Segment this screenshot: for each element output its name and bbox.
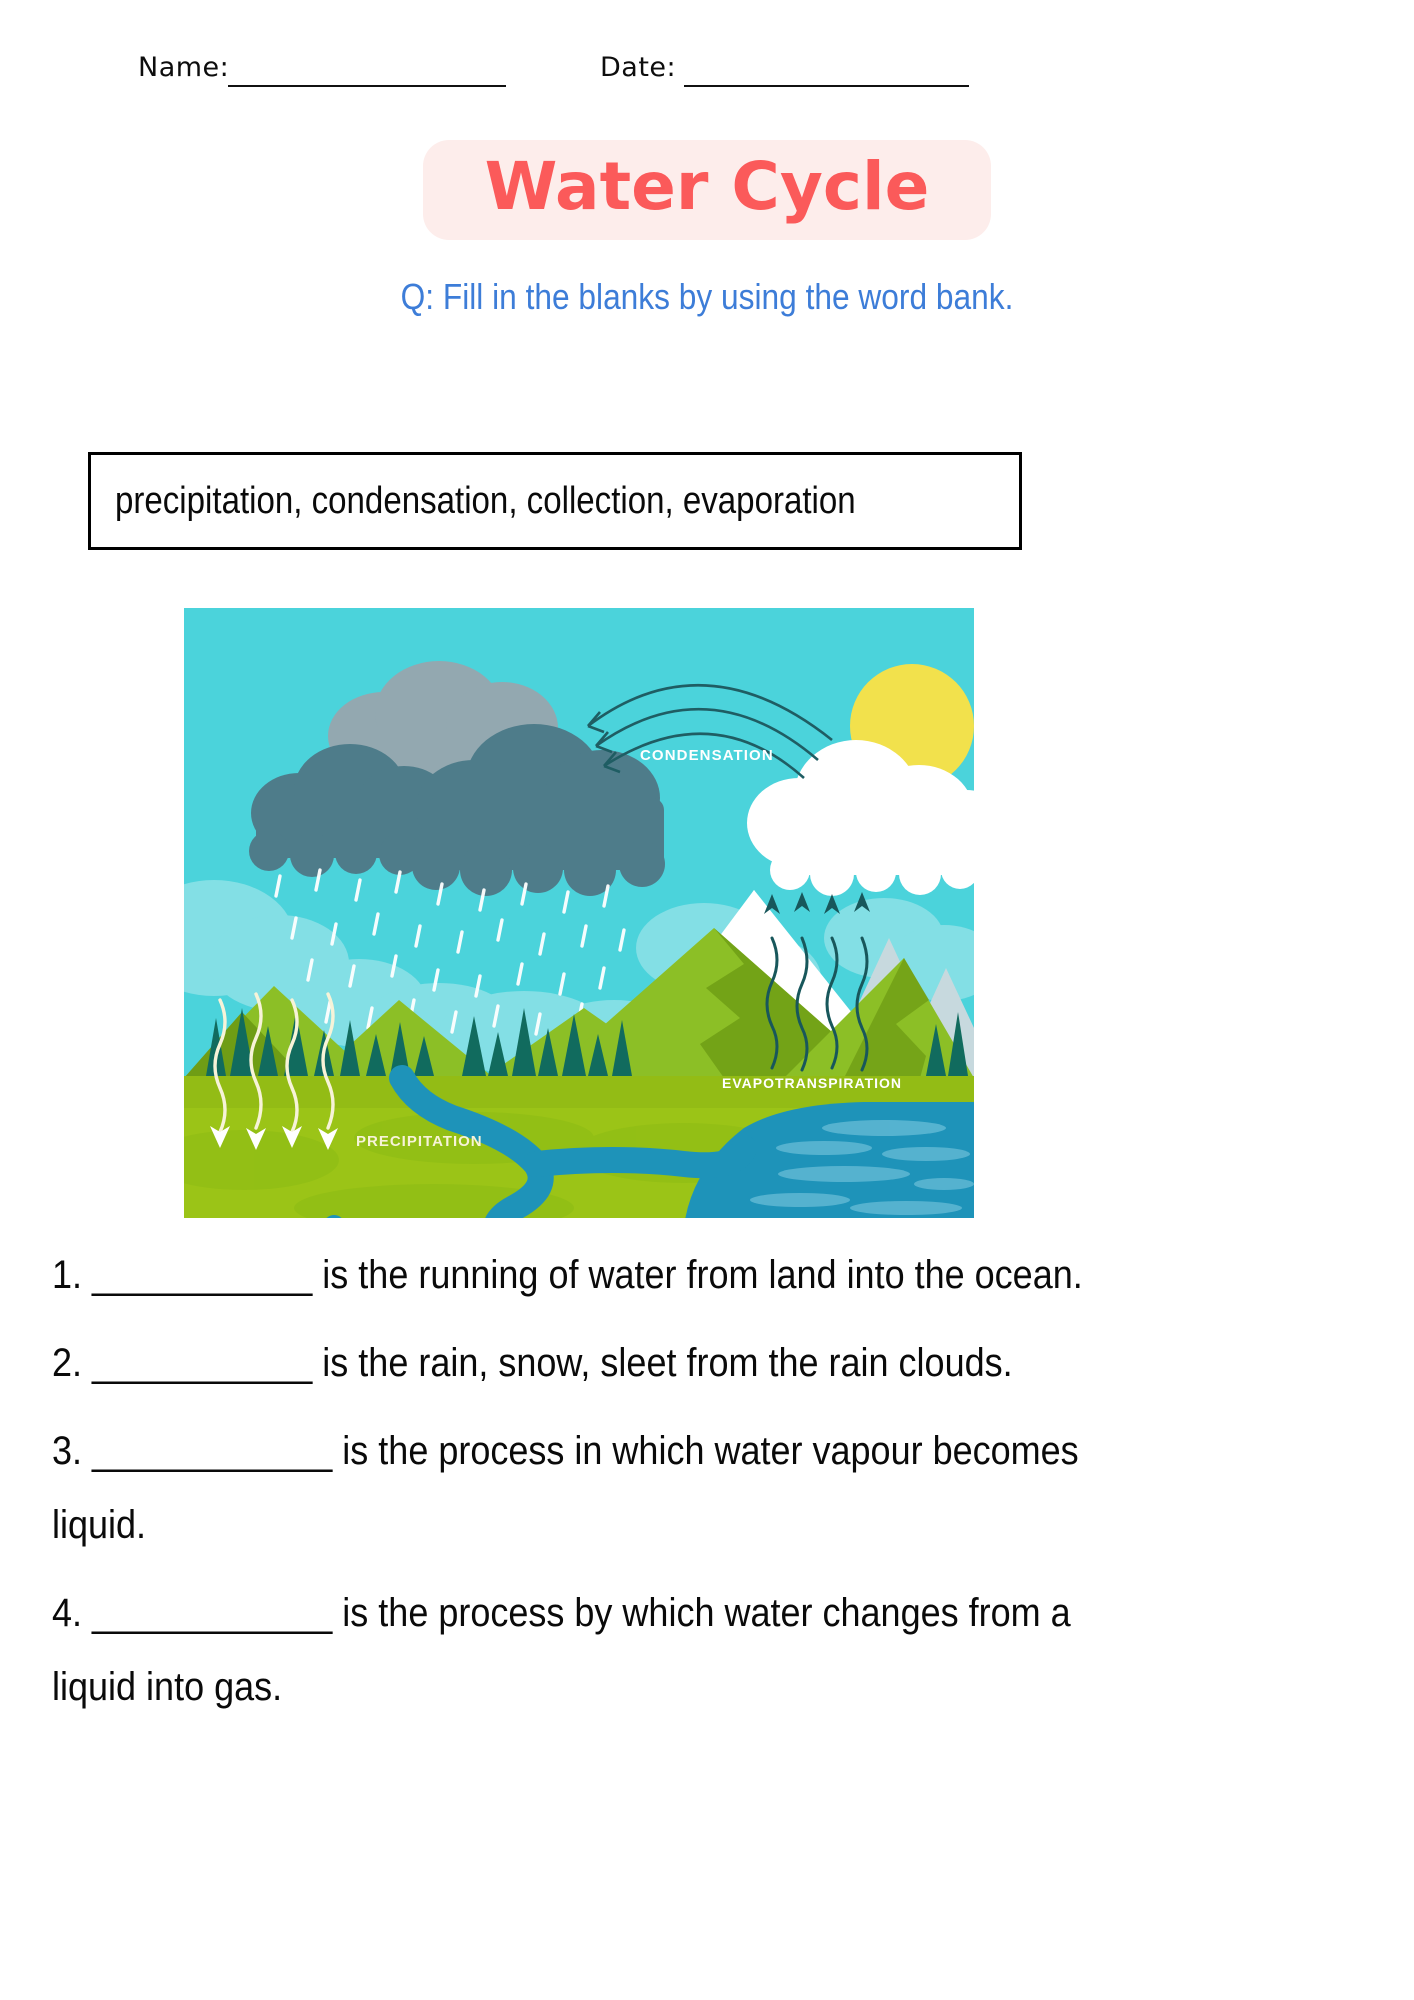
question-number-3: 3. [52,1429,82,1473]
date-write-line[interactable] [684,85,969,87]
question-blank-2[interactable]: ___________ [92,1341,312,1385]
question-item-3-continuation: liquid. [52,1505,1249,1545]
question-text-4: is the process by which water changes fr… [342,1591,1070,1635]
page-title-wrapper: Water Cycle [0,140,1414,240]
evapotranspiration-label: EVAPOTRANSPIRATION [722,1075,902,1091]
question-number-2: 2. [52,1341,82,1385]
title-pill: Water Cycle [423,140,992,240]
question-text-1: is the running of water from land into t… [322,1253,1082,1297]
precipitation-label: PRECIPITATION [356,1133,483,1150]
question-text-2: is the rain, snow, sleet from the rain c… [322,1341,1012,1385]
page-title: Water Cycle [485,148,930,225]
question-item-1: 1. ___________ is the running of water f… [52,1255,1249,1295]
question-number-1: 1. [52,1253,82,1297]
water-cycle-diagram: CONDENSATION [184,608,974,1218]
worksheet-header: Name: Date: [0,52,1414,102]
word-bank-box: precipitation, condensation, collection,… [88,452,1022,550]
questions-list: 1. ___________ is the running of water f… [52,1255,1382,1755]
question-prompt: Q: Fill in the blanks by using the word … [85,276,1329,318]
name-label: Name: [138,52,229,83]
question-item-4: 4. ____________ is the process by which … [52,1593,1249,1633]
word-bank-text: precipitation, condensation, collection,… [115,480,856,523]
question-item-3: 3. ____________ is the process in which … [52,1431,1249,1471]
question-text-3: is the process in which water vapour bec… [342,1429,1078,1473]
question-blank-4[interactable]: ____________ [92,1591,332,1635]
condensation-label: CONDENSATION [640,747,774,764]
date-label: Date: [600,52,676,83]
question-blank-3[interactable]: ____________ [92,1429,332,1473]
question-item-4-continuation: liquid into gas. [52,1667,1249,1707]
question-item-2: 2. ___________ is the rain, snow, sleet … [52,1343,1249,1383]
question-number-4: 4. [52,1591,82,1635]
question-blank-1[interactable]: ___________ [92,1253,312,1297]
name-write-line[interactable] [228,85,506,87]
